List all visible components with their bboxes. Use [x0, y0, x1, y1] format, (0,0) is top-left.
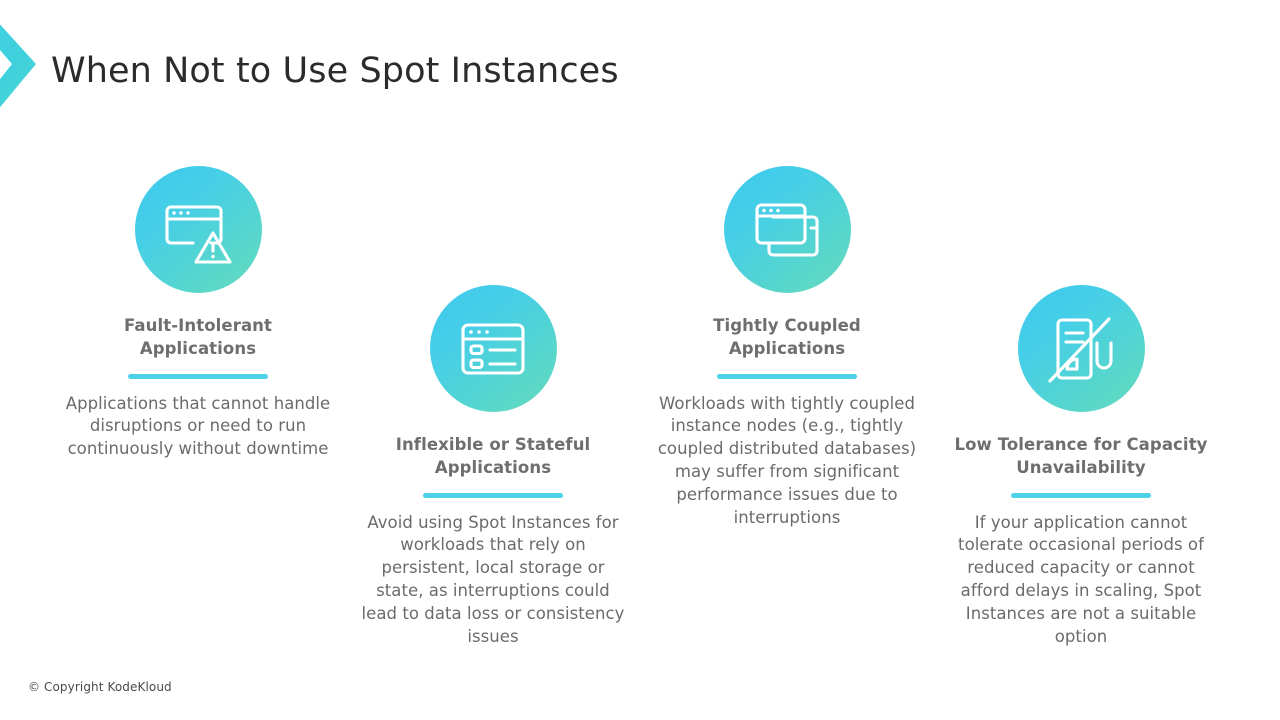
card-divider: [423, 493, 563, 498]
card-title: Fault-Intolerant Applications: [64, 315, 332, 361]
card-low-tolerance-capacity: Low Tolerance for Capacity Unavailabilit…: [947, 285, 1215, 649]
card-body: Avoid using Spot Instances for workloads…: [359, 512, 627, 650]
card-divider: [1011, 493, 1151, 498]
card-body: Workloads with tightly coupled instance …: [653, 393, 921, 531]
card-inflexible-stateful: Inflexible or Stateful Applications Avoi…: [359, 285, 627, 649]
card-title: Inflexible or Stateful Applications: [359, 434, 627, 480]
document-gauge-crossed-out-icon: [1018, 285, 1145, 412]
slide-canvas: When Not to Use Spot Instances Fault-Int…: [0, 0, 1280, 720]
cards-container: Fault-Intolerant Applications Applicatio…: [0, 0, 1280, 720]
card-body: If your application cannot tolerate occa…: [947, 512, 1215, 650]
card-title: Tightly Coupled Applications: [653, 315, 921, 361]
card-divider: [128, 374, 268, 379]
card-tightly-coupled: Tightly Coupled Applications Workloads w…: [653, 166, 921, 530]
form-list-window-icon: [430, 285, 557, 412]
card-title: Low Tolerance for Capacity Unavailabilit…: [947, 434, 1215, 480]
browser-window-warning-icon: [135, 166, 262, 293]
stacked-windows-icon: [724, 166, 851, 293]
footer-copyright: © Copyright KodeKloud: [28, 680, 172, 694]
card-divider: [717, 374, 857, 379]
card-fault-intolerant: Fault-Intolerant Applications Applicatio…: [64, 166, 332, 461]
card-body: Applications that cannot handle disrupti…: [64, 393, 332, 462]
